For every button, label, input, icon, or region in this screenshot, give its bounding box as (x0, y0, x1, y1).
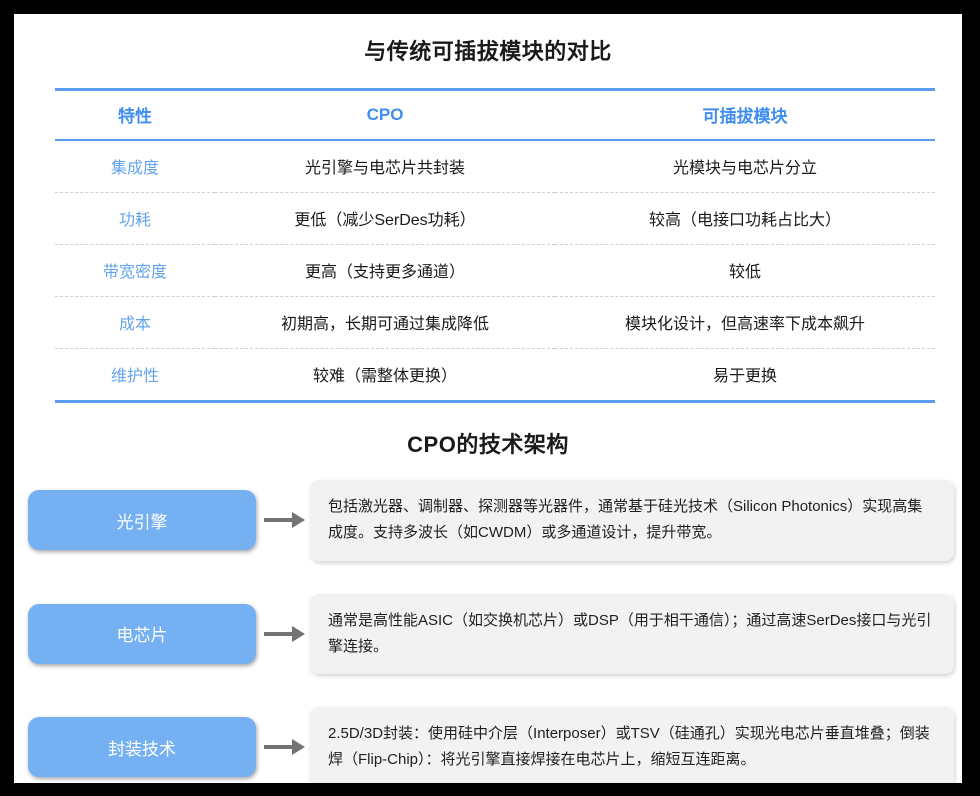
arrow-right-icon (262, 737, 306, 757)
flow-item: 光引擎 包括激光器、调制器、探测器等光器件，通常基于硅光技术（Silicon P… (28, 480, 962, 594)
row-cpo-value: 较难（需整体更换） (215, 349, 555, 402)
comparison-table-body: 集成度 光引擎与电芯片共封装 光模块与电芯片分立 功耗 更低（减少SerDes功… (55, 140, 935, 402)
comparison-table: 特性 CPO 可插拔模块 集成度 光引擎与电芯片共封装 光模块与电芯片分立 功耗… (55, 88, 935, 403)
row-pluggable-value: 模块化设计，但高速率下成本飙升 (555, 297, 935, 349)
flow-node-label: 光引擎 (117, 508, 168, 533)
flow-item: 封装技术 2.5D/3D封装：使用硅中介层（Interposer）或TSV（硅通… (28, 707, 962, 783)
comparison-table-head: 特性 CPO 可插拔模块 (55, 90, 935, 141)
page-canvas: 与传统可插拔模块的对比 特性 CPO 可插拔模块 集成度 光引擎与电芯片共封装 … (14, 14, 962, 783)
column-header-pluggable: 可插拔模块 (555, 90, 935, 141)
flow-item: 电芯片 通常是高性能ASIC（如交换机芯片）或DSP（用于相干通信）；通过高速S… (28, 594, 962, 708)
row-cpo-value: 光引擎与电芯片共封装 (215, 140, 555, 193)
table-row: 带宽密度 更高（支持更多通道） 较低 (55, 245, 935, 297)
row-feature-label: 功耗 (55, 193, 215, 245)
column-header-cpo: CPO (215, 90, 555, 141)
row-cpo-value: 更高（支持更多通道） (215, 245, 555, 297)
comparison-section-title: 与传统可插拔模块的对比 (14, 34, 962, 66)
flow-node-packaging-tech[interactable]: 封装技术 (28, 717, 256, 777)
row-feature-label: 带宽密度 (55, 245, 215, 297)
column-header-feature: 特性 (55, 90, 215, 141)
row-feature-label: 维护性 (55, 349, 215, 402)
flow-description: 包括激光器、调制器、探测器等光器件，通常基于硅光技术（Silicon Photo… (310, 480, 954, 561)
flow-description: 2.5D/3D封装：使用硅中介层（Interposer）或TSV（硅通孔）实现光… (310, 707, 954, 783)
arrow-right-icon (262, 510, 306, 530)
architecture-section-title: CPO的技术架构 (14, 427, 962, 459)
architecture-flow-list: 光引擎 包括激光器、调制器、探测器等光器件，通常基于硅光技术（Silicon P… (14, 480, 962, 783)
row-cpo-value: 更低（减少SerDes功耗） (215, 193, 555, 245)
row-pluggable-value: 较低 (555, 245, 935, 297)
arrow-right-icon (262, 624, 306, 644)
flow-node-optical-engine[interactable]: 光引擎 (28, 490, 256, 550)
row-pluggable-value: 较高（电接口功耗占比大） (555, 193, 935, 245)
row-cpo-value: 初期高，长期可通过集成降低 (215, 297, 555, 349)
table-row: 集成度 光引擎与电芯片共封装 光模块与电芯片分立 (55, 140, 935, 193)
row-pluggable-value: 光模块与电芯片分立 (555, 140, 935, 193)
table-header-row: 特性 CPO 可插拔模块 (55, 90, 935, 141)
flow-description: 通常是高性能ASIC（如交换机芯片）或DSP（用于相干通信）；通过高速SerDe… (310, 594, 954, 675)
flow-node-label: 封装技术 (108, 735, 176, 760)
table-row: 成本 初期高，长期可通过集成降低 模块化设计，但高速率下成本飙升 (55, 297, 935, 349)
table-row: 功耗 更低（减少SerDes功耗） 较高（电接口功耗占比大） (55, 193, 935, 245)
comparison-table-container: 特性 CPO 可插拔模块 集成度 光引擎与电芯片共封装 光模块与电芯片分立 功耗… (55, 88, 935, 403)
table-row: 维护性 较难（需整体更换） 易于更换 (55, 349, 935, 402)
row-feature-label: 成本 (55, 297, 215, 349)
flow-node-electrical-chip[interactable]: 电芯片 (28, 604, 256, 664)
row-feature-label: 集成度 (55, 140, 215, 193)
flow-node-label: 电芯片 (117, 621, 168, 646)
row-pluggable-value: 易于更换 (555, 349, 935, 402)
